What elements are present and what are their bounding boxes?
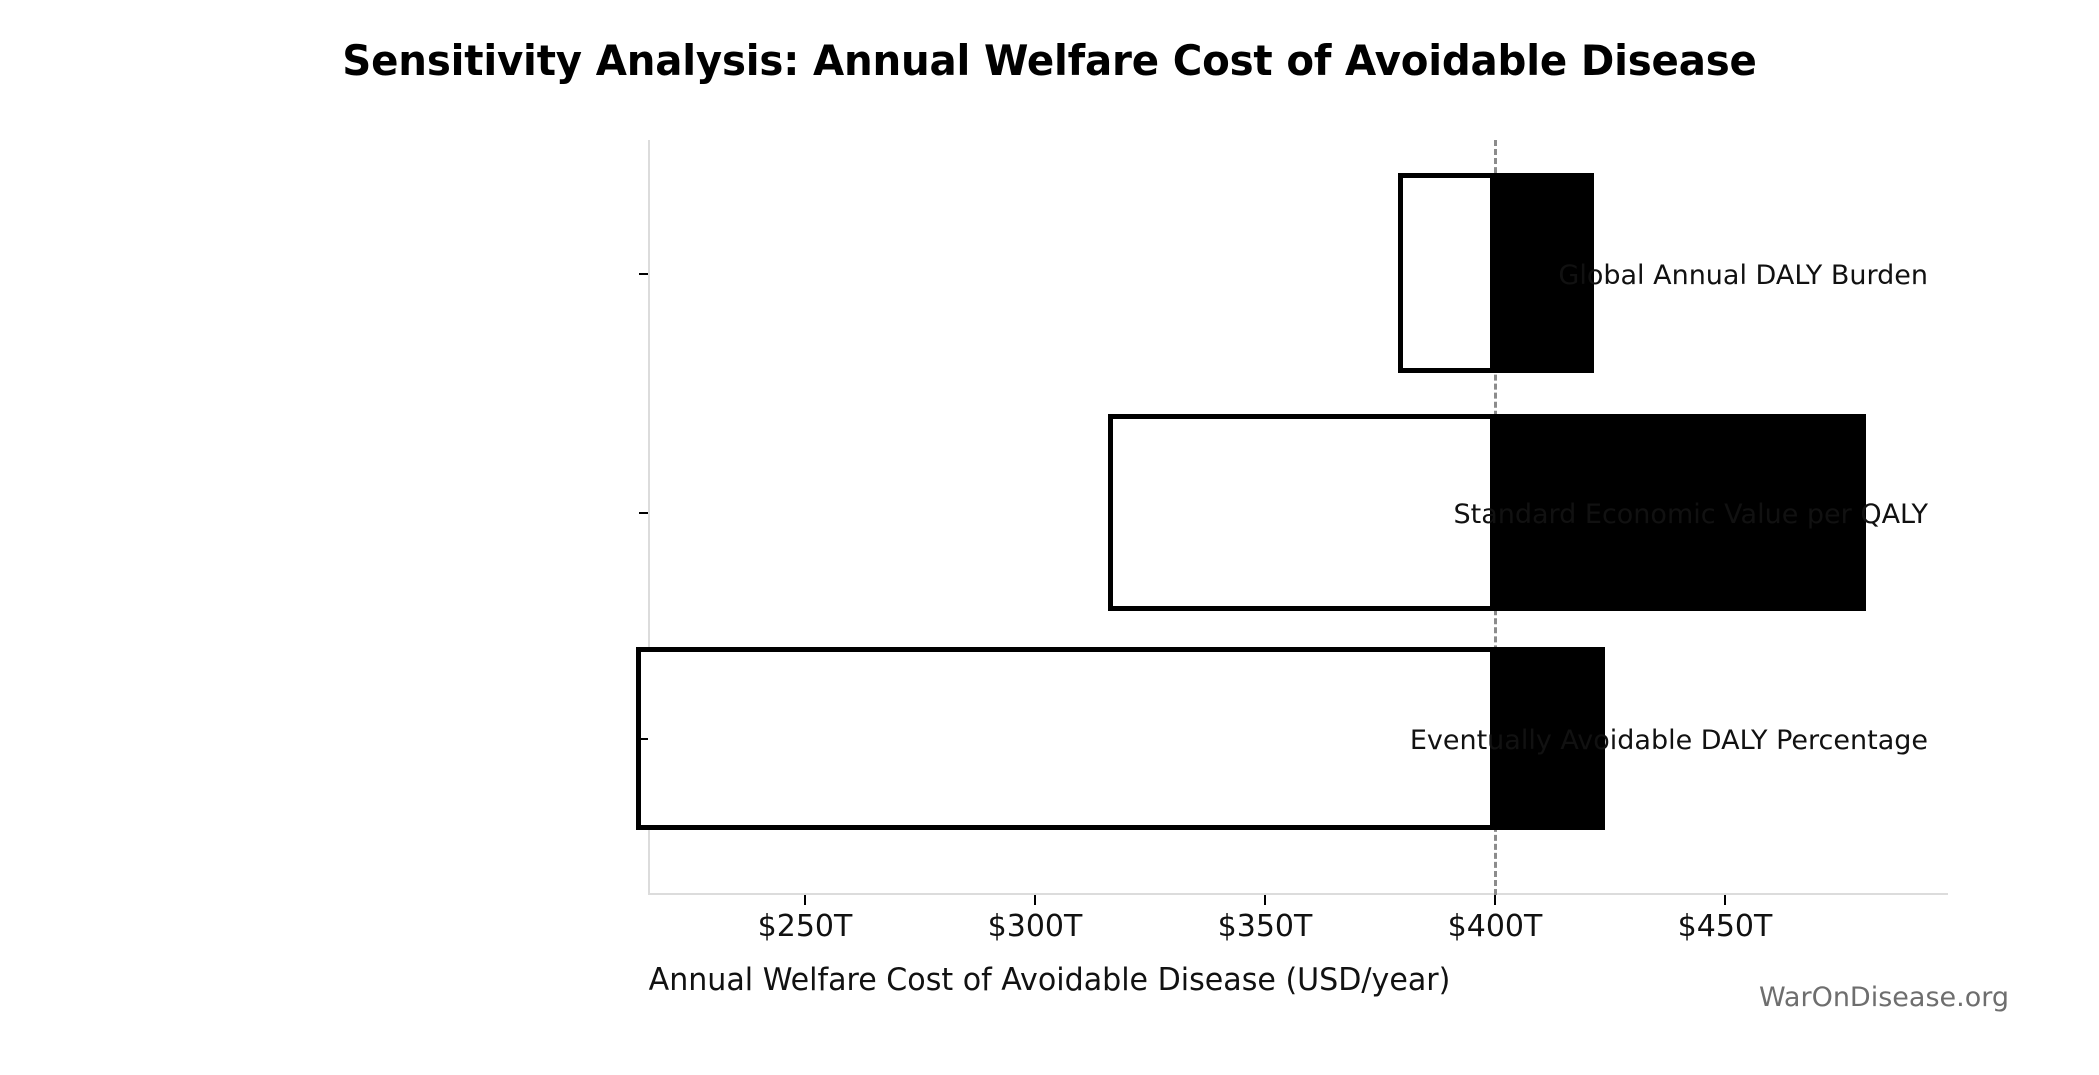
x-tick-label-1: $300T	[988, 912, 1083, 942]
y-tick-label-2: Eventually Avoidable DALY Percentage	[1410, 727, 1928, 754]
y-tick-mark-0	[639, 273, 648, 275]
plot-area: Global Annual DALY Burden Standard Econo…	[648, 140, 1948, 895]
bar-low-row-1[interactable]	[1108, 414, 1495, 611]
chart-figure: Sensitivity Analysis: Annual Welfare Cos…	[0, 0, 2099, 1075]
x-tick-label-0: $250T	[758, 912, 853, 942]
y-tick-mark-2	[639, 738, 648, 740]
x-axis-spine	[648, 893, 1948, 895]
x-tick-mark-1	[1034, 895, 1036, 905]
watermark-label: WarOnDisease.org	[1759, 982, 2009, 1013]
x-tick-mark-2	[1264, 895, 1266, 905]
y-tick-mark-1	[639, 512, 648, 514]
x-tick-label-4: $450T	[1678, 912, 1773, 942]
y-tick-label-1: Standard Economic Value per QALY	[1453, 501, 1928, 528]
x-tick-mark-4	[1724, 895, 1726, 905]
bar-low-row-0[interactable]	[1398, 173, 1495, 373]
x-tick-mark-0	[804, 895, 806, 905]
x-tick-label-2: $350T	[1218, 912, 1313, 942]
bar-low-row-2[interactable]	[636, 647, 1495, 830]
page-title: Sensitivity Analysis: Annual Welfare Cos…	[42, 36, 2057, 85]
x-tick-label-3: $400T	[1448, 912, 1543, 942]
y-tick-label-0: Global Annual DALY Burden	[1558, 262, 1928, 289]
x-tick-mark-3	[1494, 895, 1496, 905]
